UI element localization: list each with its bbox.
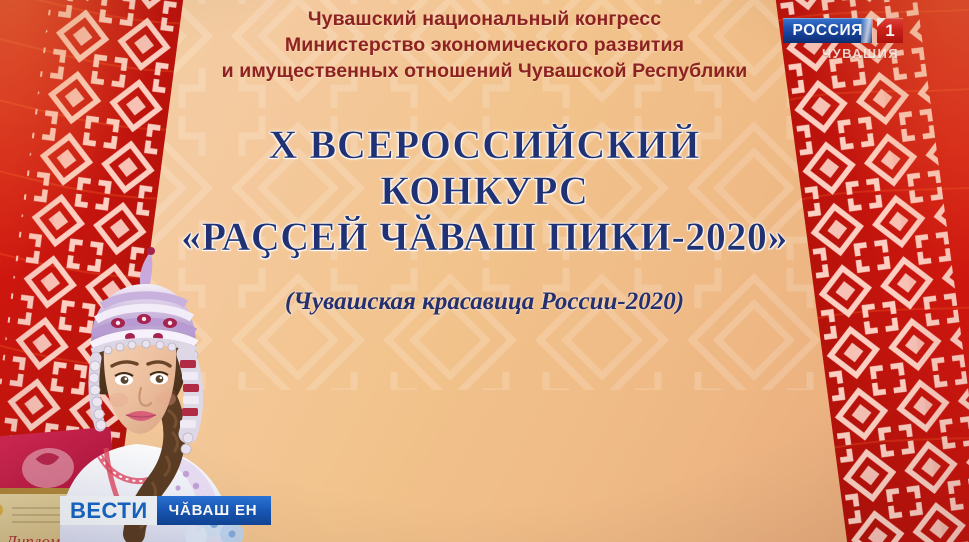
contest-title-block: X ВСЕРОССИЙСКИЙ КОНКУРС «РАҪҪЕЙ ЧӐВАШ ПИ…: [0, 122, 969, 260]
vesti-program-label: ВЕСТИ: [60, 496, 157, 525]
channel-region-label: ЧУВАШИЯ: [822, 46, 899, 61]
organizer-line-3: и имущественных отношений Чувашской Респ…: [0, 58, 969, 84]
vesti-region-label: ЧӐВАШ ЕН: [157, 496, 272, 525]
diploma-caption: Диплом: [4, 532, 60, 542]
contest-subtitle: (Чувашская красавица России-2020): [0, 288, 969, 316]
contest-title-line-3: «РАҪҪЕЙ ЧӐВАШ ПИКИ-2020»: [0, 214, 969, 260]
contest-subtitle-block: (Чувашская красавица России-2020): [0, 288, 969, 316]
channel-number-badge: 1: [877, 18, 903, 43]
contest-title-line-1: X ВСЕРОССИЙСКИЙ: [0, 122, 969, 168]
broadcast-slide: Чувашский национальный конгресс Министер…: [0, 0, 969, 542]
contest-title-line-2: КОНКУРС: [0, 168, 969, 214]
channel-logo: РОССИЯ 1: [783, 18, 903, 43]
headdress-right-strand: [180, 354, 199, 454]
vesti-lower-third: ВЕСТИ ЧӐВАШ ЕН: [60, 496, 271, 525]
channel-network-label: РОССИЯ: [783, 18, 872, 43]
